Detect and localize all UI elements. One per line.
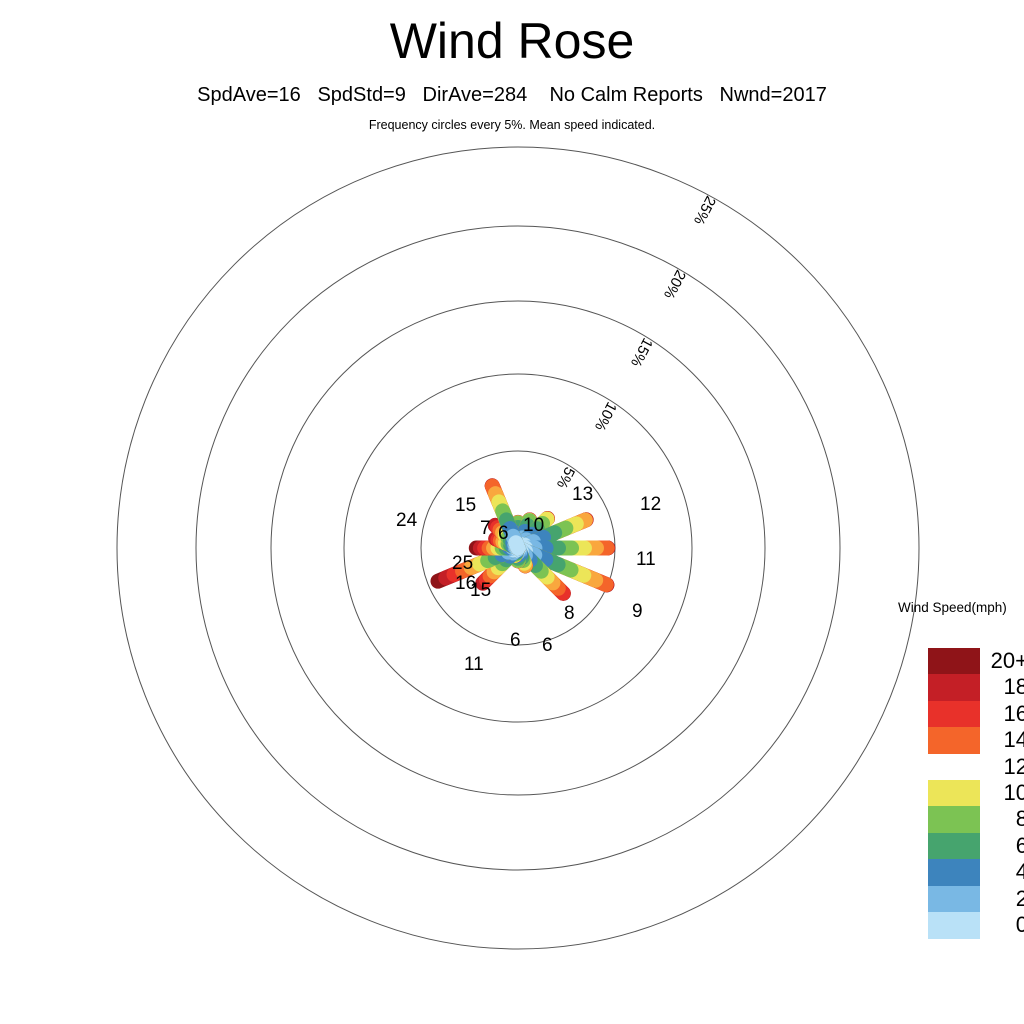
legend-swatch xyxy=(928,727,980,754)
mean-speed-label-NE: 8 xyxy=(564,603,575,625)
legend-swatch xyxy=(928,780,980,807)
legend: Wind Speed(mph) 20+181614121086420 xyxy=(898,600,1024,950)
legend-row: 10 xyxy=(928,780,1024,806)
legend-row: 2 xyxy=(928,886,1024,912)
mean-speed-label-N: 6 xyxy=(510,630,521,652)
mean-speed-label-SW: 15 xyxy=(455,495,476,517)
legend-swatch xyxy=(928,754,980,781)
legend-row: 6 xyxy=(928,833,1024,859)
mean-speed-label-W: 25 xyxy=(452,553,473,575)
mean-speed-label-NNW: 11 xyxy=(464,654,484,676)
mean-speed-label-SSW: 7 xyxy=(480,518,491,540)
petal-segment xyxy=(516,543,518,548)
legend-row: 4 xyxy=(928,859,1024,885)
mean-speed-label-S: 6 xyxy=(498,523,509,545)
mean-speed-label-SE: 13 xyxy=(572,484,593,506)
legend-label: 8 xyxy=(984,806,1024,832)
legend-label: 14 xyxy=(984,727,1024,753)
legend-row: 0 xyxy=(928,912,1024,938)
legend-label: 10 xyxy=(984,780,1024,806)
legend-label: 4 xyxy=(984,859,1024,885)
legend-label: 18 xyxy=(984,674,1024,700)
mean-speed-label-NW: 15 xyxy=(470,580,491,602)
legend-swatch xyxy=(928,859,980,886)
mean-speed-label-ENE: 9 xyxy=(632,601,643,623)
mean-speed-label-NNE: 6 xyxy=(542,635,553,657)
wind-rose-page: Wind Rose SpdAve=16 SpdStd=9 DirAve=284 … xyxy=(0,0,1024,1024)
legend-swatch xyxy=(928,701,980,728)
legend-label: 0 xyxy=(984,912,1024,938)
legend-swatch xyxy=(928,806,980,833)
mean-speed-label-ESE: 12 xyxy=(640,494,661,516)
legend-swatch xyxy=(928,674,980,701)
mean-speed-label-SSE: 10 xyxy=(523,515,544,537)
legend-row: 12 xyxy=(928,754,1024,780)
legend-row: 20+ xyxy=(928,648,1024,674)
legend-label: 12 xyxy=(984,754,1024,780)
legend-swatch xyxy=(928,912,980,939)
legend-title: Wind Speed(mph) xyxy=(898,600,1007,615)
legend-row: 8 xyxy=(928,806,1024,832)
mean-speed-label-WSW: 24 xyxy=(396,510,417,532)
legend-label: 16 xyxy=(984,701,1024,727)
legend-row: 14 xyxy=(928,727,1024,753)
legend-label: 6 xyxy=(984,833,1024,859)
legend-swatch xyxy=(928,833,980,860)
legend-swatch xyxy=(928,886,980,913)
wind-rose-plot xyxy=(0,0,1024,1024)
legend-row: 18 xyxy=(928,674,1024,700)
legend-label: 20+ xyxy=(984,648,1024,674)
mean-speed-label-E: 11 xyxy=(636,549,656,571)
legend-row: 16 xyxy=(928,701,1024,727)
legend-label: 2 xyxy=(984,886,1024,912)
legend-swatch xyxy=(928,648,980,675)
